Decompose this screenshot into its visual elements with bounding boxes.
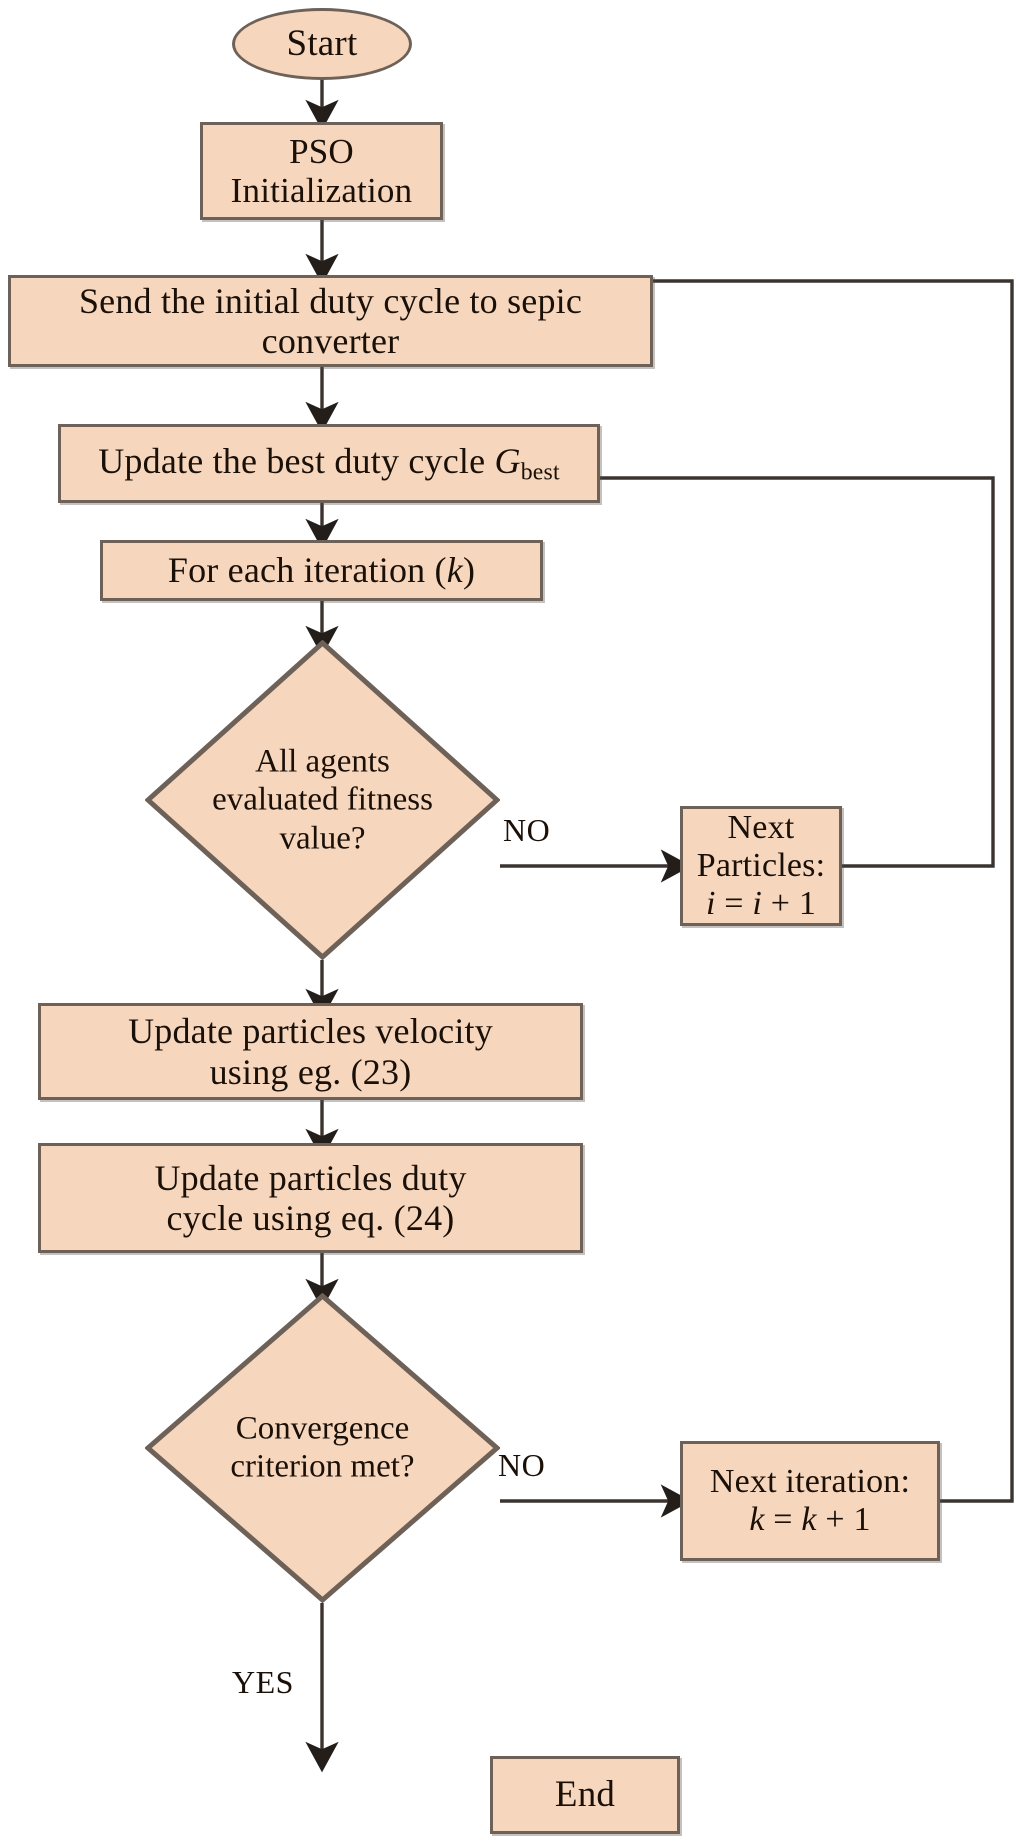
node-update-particles-velocity[interactable]: Update particles velocity using eg. (23): [38, 1003, 583, 1100]
node-decision-convergence[interactable]: Convergence criterion met?: [145, 1293, 500, 1603]
node-end-label: End: [493, 1774, 677, 1815]
node-update-best-duty-cycle-prefix: Update the best duty cycle: [98, 441, 494, 481]
node-decision-all-agents[interactable]: All agents evaluated fitness value?: [145, 640, 500, 960]
node-update-particles-duty[interactable]: Update particles duty cycle using eq. (2…: [38, 1143, 583, 1253]
node-for-each-iteration-prefix: For each iteration (: [168, 550, 447, 590]
node-next-particles-box[interactable]: Next Particles: i = i + 1: [680, 806, 842, 926]
node-update-particles-velocity-label: Update particles velocity using eg. (23): [41, 1011, 580, 1092]
node-for-each-iteration-var: k: [447, 550, 463, 590]
node-next-iteration-box[interactable]: Next iteration: k = k + 1: [680, 1441, 940, 1561]
node-decision-all-agents-label: All agents evaluated fitness value?: [145, 743, 500, 858]
node-end[interactable]: End: [490, 1756, 680, 1834]
node-update-best-duty-cycle-subscript: best: [521, 460, 560, 486]
node-send-initial-duty-cycle-label: Send the initial duty cycle to sepic con…: [11, 281, 650, 362]
node-next-particles-title: Next Particles:: [683, 809, 839, 885]
edge-label-no-convergence: NO: [498, 1447, 545, 1484]
node-next-iteration-title: Next iteration:: [683, 1463, 937, 1501]
node-next-iteration-equation: k = k + 1: [683, 1501, 937, 1539]
node-update-particles-duty-label: Update particles duty cycle using eq. (2…: [41, 1158, 580, 1239]
node-for-each-iteration-suffix: ): [463, 550, 475, 590]
node-start-label: Start: [235, 23, 409, 64]
node-for-each-iteration-label: For each iteration (k): [103, 550, 540, 590]
node-update-best-duty-cycle-label: Update the best duty cycle Gbest: [61, 441, 597, 486]
node-next-particles-equation: i = i + 1: [683, 885, 839, 923]
node-pso-initialization-label: PSO Initialization: [203, 132, 440, 210]
node-decision-convergence-label: Convergence criterion met?: [145, 1410, 500, 1487]
edge-label-yes-convergence: YES: [232, 1664, 294, 1701]
node-pso-initialization[interactable]: PSO Initialization: [200, 122, 443, 220]
node-update-best-duty-cycle-var: G: [495, 441, 521, 481]
flowchart-canvas: Start PSO Initialization Send the initia…: [0, 0, 1020, 1841]
node-update-best-duty-cycle[interactable]: Update the best duty cycle Gbest: [58, 424, 600, 503]
edge-label-no-all-agents: NO: [503, 812, 550, 849]
node-send-initial-duty-cycle[interactable]: Send the initial duty cycle to sepic con…: [8, 275, 653, 367]
node-for-each-iteration[interactable]: For each iteration (k): [100, 540, 543, 601]
node-start[interactable]: Start: [232, 8, 412, 80]
